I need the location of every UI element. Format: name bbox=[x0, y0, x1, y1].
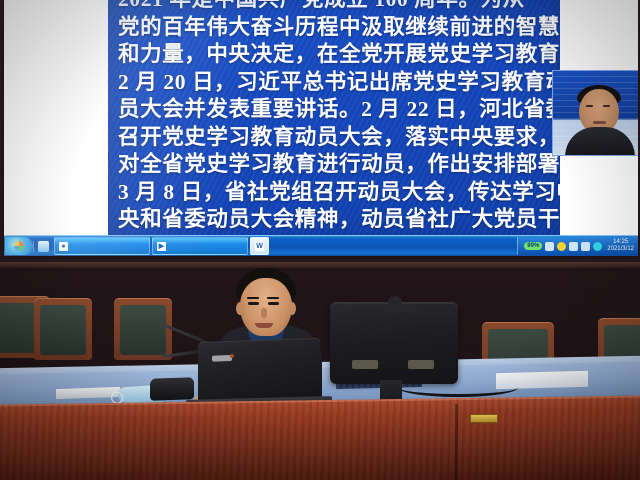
presentation-slide: 2021 年是中国共产党成立 100 周年。为从 党的百年伟大奋斗历程中汲取继续… bbox=[108, 0, 560, 244]
notification-icon[interactable] bbox=[557, 242, 566, 251]
taskbar-button-media[interactable]: ▶ bbox=[152, 237, 248, 255]
chair bbox=[114, 298, 172, 360]
slide-line: 2021 年是中国共产党成立 100 周年。为从 bbox=[118, 0, 554, 14]
quick-launch-icon[interactable] bbox=[38, 241, 49, 252]
media-icon: ▶ bbox=[157, 242, 166, 251]
speaker-eyebrow bbox=[247, 297, 259, 299]
slide-line: 2 月 20 日，习近平总书记出席党史学习教育动 bbox=[118, 69, 554, 97]
slide-line: 和力量，中央决定，在全党开展党史学习教育。 bbox=[118, 41, 554, 69]
monitor-camera-icon bbox=[388, 296, 402, 308]
system-tray[interactable]: 99% 14:25 2021/3/12 bbox=[517, 237, 638, 255]
conference-room-photo: 2021 年是中国共产党成立 100 周年。为从 党的百年伟大奋斗历程中汲取继续… bbox=[0, 0, 640, 480]
speaker-eye bbox=[248, 302, 259, 305]
app-icon: ● bbox=[59, 242, 68, 251]
speaker-ear bbox=[236, 302, 244, 315]
laptop-computer[interactable] bbox=[198, 338, 320, 404]
slide-line: 员大会并发表重要讲话。2 月 22 日，河北省委 bbox=[118, 96, 554, 124]
laptop-logo bbox=[212, 355, 232, 362]
microphone-base bbox=[150, 377, 194, 401]
input-method-icon[interactable] bbox=[581, 242, 590, 251]
volume-icon[interactable] bbox=[593, 242, 602, 251]
monitor-port bbox=[408, 360, 434, 369]
taskbar-button-app[interactable]: ● bbox=[54, 237, 150, 255]
speaker-mouth bbox=[255, 323, 273, 328]
chair-pad bbox=[40, 305, 86, 355]
document-icon[interactable] bbox=[569, 242, 578, 251]
clock-time: 14:25 bbox=[613, 239, 628, 245]
video-call-thumbnail[interactable] bbox=[552, 70, 638, 156]
table-panel-seam bbox=[455, 404, 458, 480]
start-button-icon[interactable] bbox=[5, 237, 33, 255]
chair bbox=[34, 298, 92, 360]
slide-text-block: 2021 年是中国共产党成立 100 周年。为从 党的百年伟大奋斗历程中汲取继续… bbox=[118, 0, 554, 244]
conference-table-front bbox=[0, 395, 640, 480]
monitor-port bbox=[352, 360, 378, 369]
participant-mouth bbox=[593, 121, 606, 124]
windows-taskbar[interactable]: ● ▶ W 99% 14:25 2021/3/12 bbox=[4, 235, 638, 256]
battery-badge[interactable]: 99% bbox=[524, 242, 542, 250]
name-plate bbox=[470, 414, 498, 423]
speaker-eyebrow bbox=[267, 297, 279, 299]
desktop-monitor-rear bbox=[330, 302, 458, 384]
slide-line: 党的百年伟大奋斗历程中汲取继续前进的智慧 bbox=[118, 14, 554, 42]
slide-line: 3 月 8 日，省社党组召开动员大会，传达学习中 bbox=[118, 179, 554, 207]
word-icon: W bbox=[255, 242, 264, 251]
taskbar-clock[interactable]: 14:25 2021/3/12 bbox=[605, 239, 636, 253]
quick-launch-bar[interactable] bbox=[33, 241, 53, 252]
clock-date: 2021/3/12 bbox=[607, 246, 634, 252]
speaker-eye bbox=[268, 302, 279, 305]
slide-line: 对全省党史学习教育进行动员，作出安排部署。 bbox=[118, 151, 554, 179]
slide-line: 召开党史学习教育动员大会，落实中央要求， bbox=[118, 124, 554, 152]
projection-screen: 2021 年是中国共产党成立 100 周年。为从 党的百年伟大奋斗历程中汲取继续… bbox=[4, 0, 638, 256]
network-icon[interactable] bbox=[545, 242, 554, 251]
slide-line: 央和省委动员大会精神，动员省社广大党员干 bbox=[118, 206, 554, 234]
participant-eye-right bbox=[603, 105, 610, 107]
speaker-nose bbox=[261, 308, 267, 318]
speaker-ear bbox=[288, 302, 296, 315]
participant-eye-left bbox=[586, 105, 593, 107]
taskbar-button-word[interactable]: W bbox=[250, 237, 269, 255]
chair-pad bbox=[120, 305, 166, 355]
